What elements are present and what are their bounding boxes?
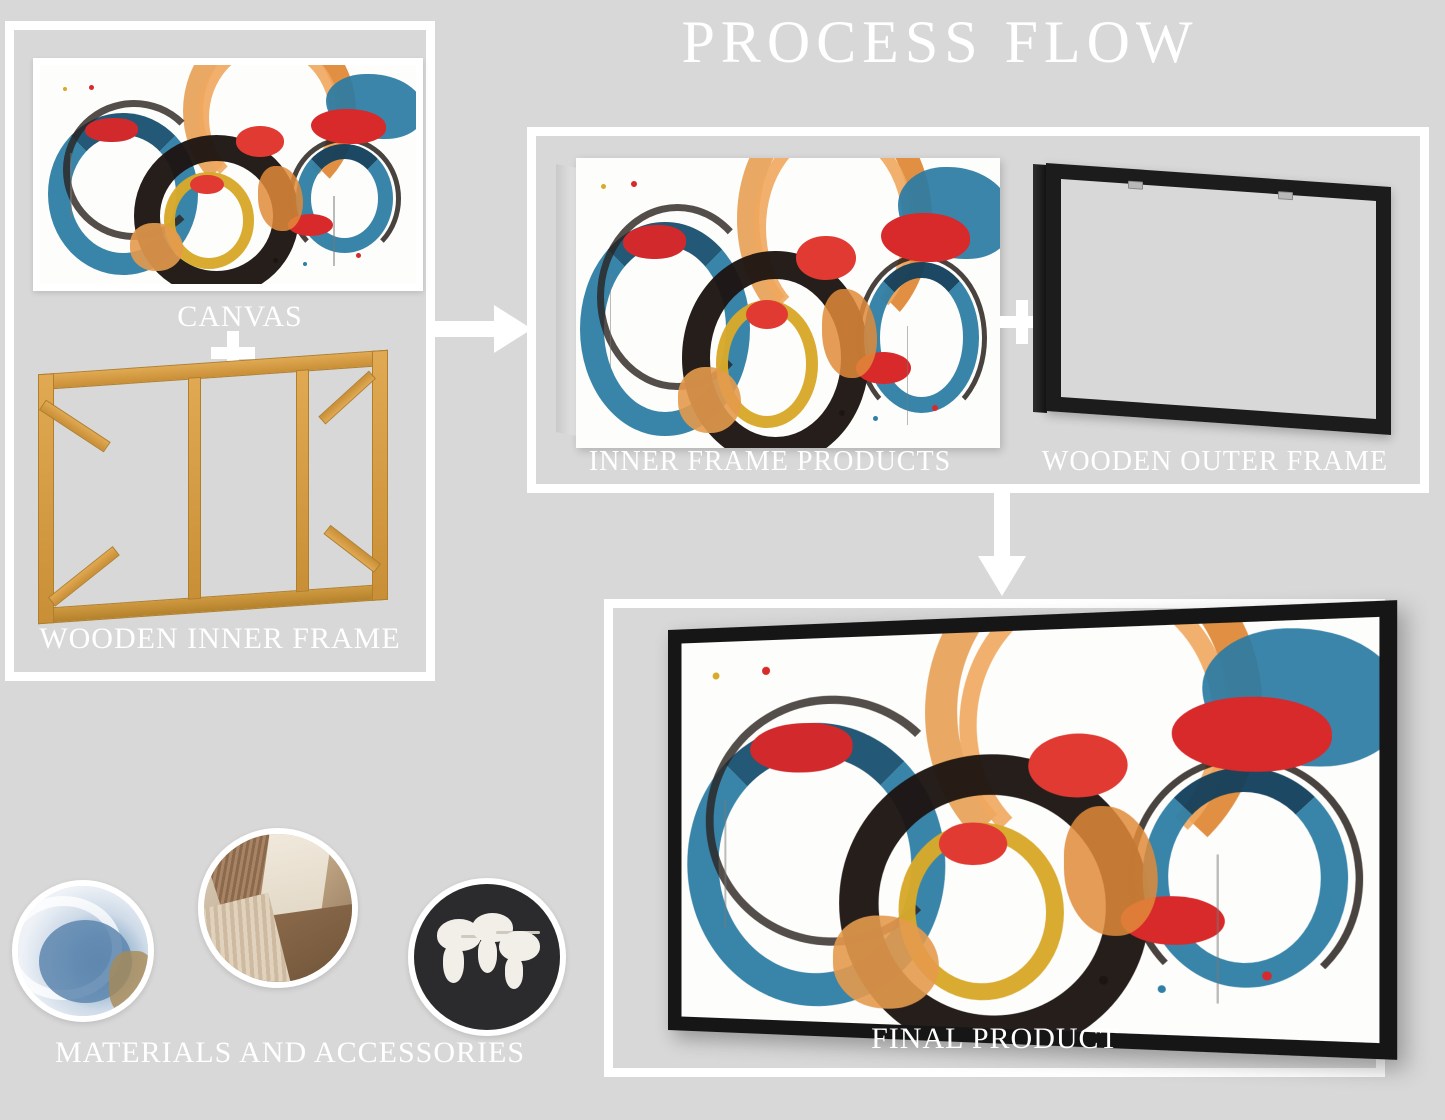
label-final-product: FINAL PRODUCT (700, 1022, 1290, 1056)
infographic-canvas: PROCESS FLOW (0, 0, 1445, 1120)
hanging-clip-icon (1278, 191, 1293, 200)
abstract-artwork (40, 65, 416, 284)
hanging-clip-icon (1128, 181, 1143, 190)
abstract-artwork (576, 158, 1000, 448)
page-title: PROCESS FLOW (600, 8, 1280, 77)
inner-frame-product-image (556, 158, 1000, 448)
accessory-corner-protector-photo (198, 828, 358, 988)
arrow-right-icon (432, 305, 532, 353)
canvas-print-image (33, 58, 423, 291)
label-wooden-outer-frame: WOODEN OUTER FRAME (1000, 446, 1430, 478)
frame-left-edge (1033, 164, 1047, 413)
wooden-inner-frame-image (38, 350, 388, 624)
accessory-wall-hooks-photo (408, 878, 566, 1036)
label-inner-frame-products: INNER FRAME PRODUCTS (545, 446, 995, 478)
wooden-outer-frame-image (1046, 163, 1391, 435)
arrow-down-icon (978, 492, 1026, 597)
label-materials-and-accessories: MATERIALS AND ACCESSORIES (10, 1036, 570, 1070)
canvas-side-edge (556, 164, 578, 436)
label-wooden-inner-frame: WOODEN INNER FRAME (20, 622, 420, 656)
accessory-plastic-film-photo (12, 880, 154, 1022)
final-product-image (668, 630, 1328, 1030)
label-canvas: CANVAS (40, 300, 440, 334)
abstract-artwork (681, 617, 1379, 1043)
